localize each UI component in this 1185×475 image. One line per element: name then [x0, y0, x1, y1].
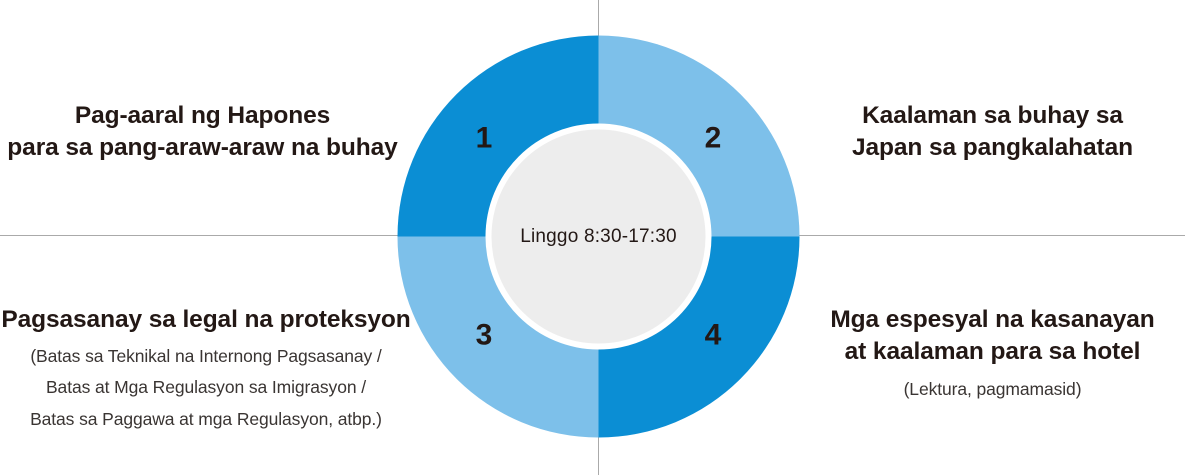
callout-4-title-line1: Mga espesyal na kasanayan: [800, 304, 1185, 336]
callout-4: Mga espesyal na kasanayan at kaalaman pa…: [800, 304, 1185, 401]
diagram-canvas: 1 2 3 4 Linggo 8:30-17:30 Pag-aaral ng H…: [0, 0, 1185, 475]
callout-3-note-3: Batas sa Paggawa at mga Regulasyon, atbp…: [0, 408, 412, 431]
segment-number-1: 1: [476, 122, 493, 155]
callout-3-note-1: (Batas sa Teknikal na Internong Pagsasan…: [0, 345, 412, 368]
segment-number-4: 4: [705, 319, 722, 352]
callout-3-title-line1: Pagsasanay sa legal na proteksyon: [0, 304, 412, 336]
callout-2-title-line1: Kaalaman sa buhay sa: [800, 100, 1185, 132]
callout-1-title-line1: Pag-aaral ng Hapones: [0, 100, 405, 132]
donut-svg: 1 2 3 4: [397, 35, 800, 438]
callout-2-title-line2: Japan sa pangkalahatan: [800, 132, 1185, 164]
callout-4-title-line2: at kaalaman para sa hotel: [800, 336, 1185, 368]
callout-2: Kaalaman sa buhay sa Japan sa pangkalaha…: [800, 100, 1185, 165]
callout-1: Pag-aaral ng Hapones para sa pang-araw-a…: [0, 100, 405, 165]
segment-number-2: 2: [705, 122, 722, 155]
callout-4-note-1: (Lektura, pagmamasid): [800, 378, 1185, 401]
segment-number-3: 3: [476, 319, 493, 352]
donut-hole: [492, 130, 706, 344]
callout-3-note-2: Batas at Mga Regulasyon sa Imigrasyon /: [0, 376, 412, 399]
callout-1-title-line2: para sa pang-araw-araw na buhay: [0, 132, 405, 164]
callout-3: Pagsasanay sa legal na proteksyon (Batas…: [0, 304, 412, 431]
donut-chart: 1 2 3 4 Linggo 8:30-17:30: [397, 35, 800, 438]
